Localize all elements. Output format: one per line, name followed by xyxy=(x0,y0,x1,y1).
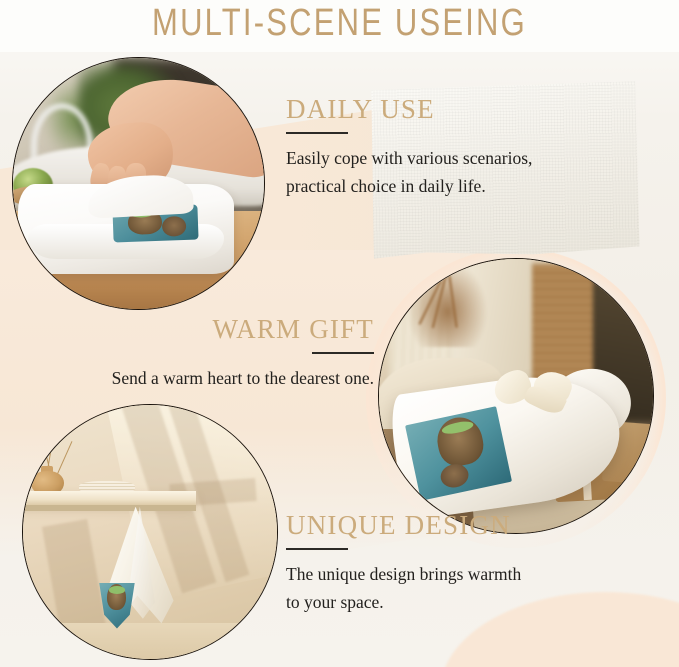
section-heading-warm-gift: WARM GIFT xyxy=(48,316,374,343)
print-animal-second xyxy=(438,461,470,489)
section-daily-use-text: DAILY USE Easily cope with various scena… xyxy=(286,96,532,200)
section-body-line: Send a warm heart to the dearest one. xyxy=(48,364,374,392)
scene-ribbon-bow xyxy=(494,369,571,413)
section-body-line: The unique design brings warmth xyxy=(286,560,521,588)
heading-rule xyxy=(286,132,348,134)
dried-stem xyxy=(448,275,457,327)
scene-shelf-underside xyxy=(22,505,196,511)
page-title: MULTI-SCENE USEING xyxy=(0,2,679,43)
section-warm-gift-text: WARM GIFT Send a warm heart to the deare… xyxy=(48,316,374,392)
photo-warm-gift-scene xyxy=(379,259,653,533)
section-body-line: practical choice in daily life. xyxy=(286,172,532,200)
heading-rule xyxy=(286,548,348,550)
scene-shelf xyxy=(22,491,196,505)
photo-daily-use xyxy=(12,57,265,310)
scene-dried-flowers xyxy=(406,259,488,347)
section-body-line: to your space. xyxy=(286,588,521,616)
print-animal-second xyxy=(163,216,188,237)
photo-unique-design-scene xyxy=(23,405,277,659)
section-heading-daily-use: DAILY USE xyxy=(286,96,532,123)
photo-warm-gift xyxy=(378,258,654,534)
print-goggles xyxy=(109,586,125,593)
photo-unique-design xyxy=(22,404,278,660)
heading-rule xyxy=(312,352,374,354)
section-unique-design-text: UNIQUE DESIGN The unique design brings w… xyxy=(286,512,521,616)
scene-counter-edge xyxy=(12,269,265,310)
section-heading-unique-design: UNIQUE DESIGN xyxy=(286,512,521,539)
photo-daily-use-scene xyxy=(13,58,264,309)
product-infographic-poster: MULTI-SCENE USEING xyxy=(0,0,679,667)
scene-floor xyxy=(22,623,278,660)
dried-stem xyxy=(432,268,449,328)
section-body-line: Easily cope with various scenarios, xyxy=(286,144,532,172)
